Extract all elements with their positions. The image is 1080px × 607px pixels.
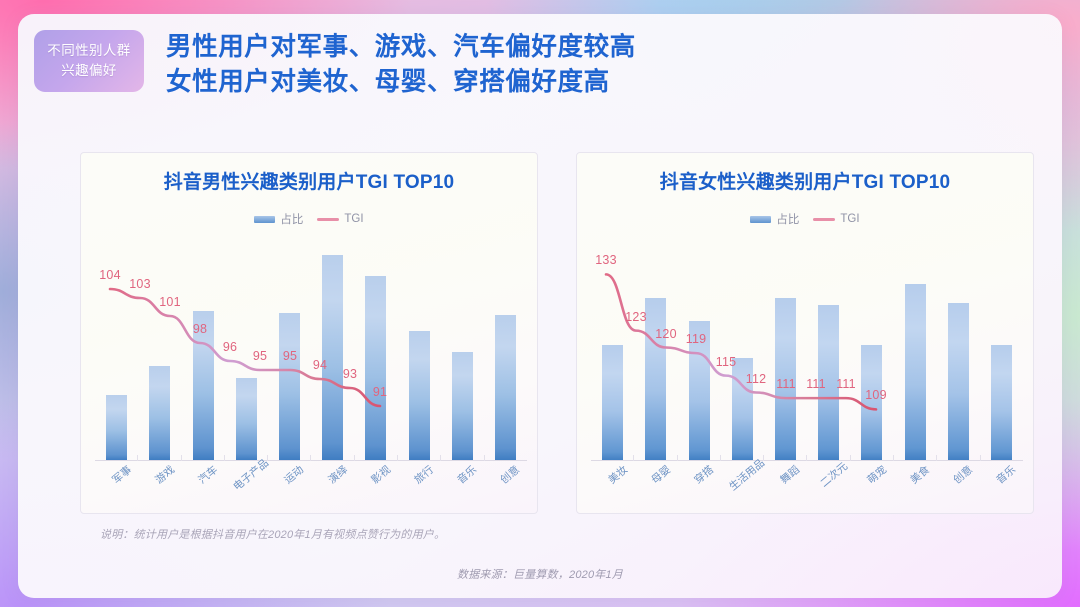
x-label-cell: 舞蹈 — [764, 465, 807, 513]
tgi-labels-female: 133123120119115112111111111109 — [591, 235, 1023, 460]
tgi-value-label: 123 — [625, 310, 646, 324]
x-label-cell: 运动 — [268, 465, 311, 513]
x-label: 军事 — [109, 462, 135, 487]
x-label: 音乐 — [993, 462, 1019, 487]
x-tick — [311, 455, 354, 461]
legend-bar-swatch-icon — [254, 216, 275, 223]
tgi-value-label: 101 — [159, 295, 180, 309]
tgi-value-label: 109 — [865, 388, 886, 402]
content-panel: 不同性别人群 兴趣偏好 男性用户对军事、游戏、汽车偏好度较高 女性用户对美妆、母… — [18, 14, 1062, 598]
section-badge: 不同性别人群 兴趣偏好 — [34, 30, 144, 92]
x-tick — [981, 455, 1023, 461]
x-label-cell: 军事 — [95, 465, 138, 513]
tgi-value-label: 98 — [193, 322, 207, 336]
x-tick — [182, 455, 225, 461]
legend-item-line: TGI — [317, 213, 363, 225]
x-label-cell: 影视 — [354, 465, 397, 513]
tgi-value-label: 120 — [655, 327, 676, 341]
x-label-cell: 美食 — [893, 465, 936, 513]
x-label-cell: 音乐 — [441, 465, 484, 513]
x-label-cell: 汽车 — [181, 465, 224, 513]
x-label: 汽车 — [195, 462, 221, 487]
x-ticks-female — [591, 455, 1023, 461]
x-axis-labels-female: 美妆母婴穿搭生活用品舞蹈二次元萌宠美食创意音乐 — [591, 465, 1023, 513]
legend-bar-label: 占比 — [280, 211, 303, 227]
x-label-cell: 二次元 — [807, 465, 850, 513]
tgi-value-label: 95 — [253, 349, 267, 363]
x-label-cell: 创意 — [937, 465, 980, 513]
tgi-value-label: 111 — [806, 377, 826, 391]
x-tick — [894, 455, 937, 461]
x-label: 美食 — [907, 462, 933, 487]
x-tick — [355, 455, 398, 461]
legend-item-line: TGI — [813, 213, 859, 225]
legend-bar-label: 占比 — [776, 211, 799, 227]
x-tick — [138, 455, 181, 461]
x-label: 旅行 — [411, 462, 437, 487]
legend-item-bar: 占比 — [750, 211, 799, 227]
x-label-cell: 游戏 — [138, 465, 181, 513]
x-tick — [591, 455, 634, 461]
x-label: 演绎 — [325, 462, 351, 487]
x-tick — [678, 455, 721, 461]
tgi-value-label: 93 — [343, 367, 357, 381]
x-label: 舞蹈 — [777, 462, 803, 487]
x-label: 电子产品 — [230, 456, 272, 494]
chart-card-female: 抖音女性兴趣类别用户TGI TOP10 占比 TGI 1331231201191… — [576, 152, 1034, 514]
x-tick — [764, 455, 807, 461]
x-label-cell: 美妆 — [591, 465, 634, 513]
tgi-value-label: 133 — [595, 253, 616, 267]
x-label: 创意 — [950, 462, 976, 487]
x-ticks-male — [95, 455, 527, 461]
tgi-value-label: 111 — [836, 377, 856, 391]
x-label: 生活用品 — [726, 456, 768, 494]
x-label: 母婴 — [648, 462, 674, 487]
x-label-cell: 电子产品 — [225, 465, 268, 513]
x-label-cell: 创意 — [484, 465, 527, 513]
tgi-value-label: 104 — [99, 268, 120, 282]
x-tick — [441, 455, 484, 461]
x-label: 穿搭 — [691, 462, 717, 487]
chart-legend-female: 占比 TGI — [577, 211, 1033, 227]
x-label-cell: 穿搭 — [677, 465, 720, 513]
data-source-label: 数据来源：巨量算数，2020年1月 — [18, 566, 1062, 582]
x-label: 创意 — [497, 462, 523, 487]
x-label: 二次元 — [817, 459, 851, 491]
legend-line-label: TGI — [344, 213, 363, 225]
x-tick — [851, 455, 894, 461]
x-label: 运动 — [281, 462, 307, 487]
x-tick — [485, 455, 527, 461]
x-label-cell: 音乐 — [980, 465, 1023, 513]
headline-line-2: 女性用户对美妆、母婴、穿搭偏好度高 — [166, 65, 1006, 100]
legend-line-swatch-icon — [317, 218, 339, 221]
tgi-value-label: 103 — [129, 277, 150, 291]
x-tick — [95, 455, 138, 461]
x-label-cell: 母婴 — [634, 465, 677, 513]
x-axis-labels-male: 军事游戏汽车电子产品运动演绎影视旅行音乐创意 — [95, 465, 527, 513]
tgi-value-label: 96 — [223, 340, 237, 354]
legend-item-bar: 占比 — [254, 211, 303, 227]
headline-line-1: 男性用户对军事、游戏、汽车偏好度较高 — [166, 30, 1006, 65]
x-tick — [268, 455, 311, 461]
x-tick — [634, 455, 677, 461]
legend-bar-swatch-icon — [750, 216, 771, 223]
tgi-value-label: 115 — [716, 355, 737, 369]
tgi-value-label: 95 — [283, 349, 297, 363]
x-tick — [937, 455, 980, 461]
chart-legend-male: 占比 TGI — [81, 211, 537, 227]
legend-line-label: TGI — [840, 213, 859, 225]
page-title: 男性用户对军事、游戏、汽车偏好度较高 女性用户对美妆、母婴、穿搭偏好度高 — [166, 30, 1006, 100]
tgi-value-label: 91 — [373, 385, 387, 399]
tgi-value-label: 119 — [686, 332, 707, 346]
tgi-labels-male: 10410310198969595949391 — [95, 235, 527, 460]
x-label: 游戏 — [152, 462, 178, 487]
x-label: 萌宠 — [864, 462, 890, 487]
chart-footnote: 说明：统计用户是根据抖音用户在2020年1月有视频点赞行为的用户。 — [100, 526, 445, 542]
badge-line-2: 兴趣偏好 — [61, 61, 117, 81]
x-label: 美妆 — [605, 462, 631, 487]
x-label-cell: 演绎 — [311, 465, 354, 513]
chart-title-female: 抖音女性兴趣类别用户TGI TOP10 — [577, 167, 1033, 194]
x-tick — [398, 455, 441, 461]
chart-title-male: 抖音男性兴趣类别用户TGI TOP10 — [81, 167, 537, 194]
x-label-cell: 生活用品 — [721, 465, 764, 513]
x-label: 影视 — [368, 462, 394, 487]
badge-line-1: 不同性别人群 — [47, 41, 130, 61]
x-label-cell: 萌宠 — [850, 465, 893, 513]
tgi-value-label: 111 — [776, 377, 796, 391]
tgi-value-label: 112 — [746, 372, 767, 386]
x-label: 音乐 — [454, 462, 480, 487]
x-tick — [807, 455, 850, 461]
legend-line-swatch-icon — [813, 218, 835, 221]
x-label-cell: 旅行 — [397, 465, 440, 513]
tgi-value-label: 94 — [313, 358, 327, 372]
chart-card-male: 抖音男性兴趣类别用户TGI TOP10 占比 TGI 1041031019896… — [80, 152, 538, 514]
